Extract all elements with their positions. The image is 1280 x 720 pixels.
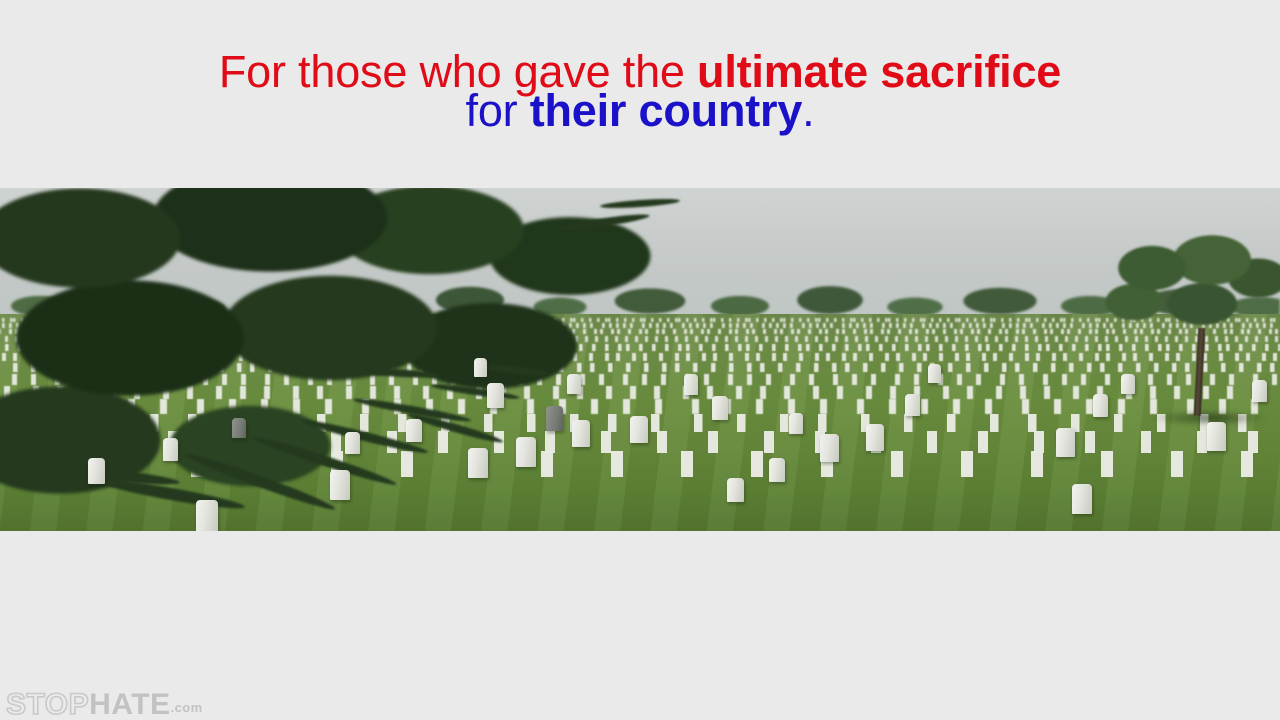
headstone: [196, 500, 218, 531]
headstone: [232, 418, 246, 438]
headstone: [1252, 380, 1267, 402]
headstone: [789, 413, 803, 434]
headstone: [516, 437, 536, 467]
headstone: [1207, 422, 1226, 451]
headstone: [630, 416, 648, 443]
headstone: [684, 374, 698, 395]
headstone: [546, 406, 563, 431]
headstone: [567, 374, 581, 394]
headstone: [1121, 374, 1135, 394]
headstone: [1056, 428, 1075, 457]
tree-canopy-right: [1092, 224, 1280, 350]
headstone: [905, 394, 920, 416]
headstone: [474, 358, 487, 377]
watermark-tld-text: .com: [171, 697, 203, 720]
headstone: [769, 458, 785, 482]
stophate-watermark: STOP HATE .com: [6, 686, 203, 720]
headline-line-2-bold: their country: [530, 85, 802, 136]
headstone: [1072, 484, 1092, 514]
headline-line-2-regular: for: [466, 85, 530, 136]
headline-line-2: for their country.: [0, 91, 1280, 130]
page-title: For those who gave the ultimate sacrific…: [0, 52, 1280, 130]
headstone: [88, 458, 105, 484]
watermark-outline-text: STOP: [6, 690, 89, 720]
headstone: [345, 432, 360, 454]
headstone: [487, 383, 504, 408]
headstone: [406, 419, 422, 442]
headstone: [163, 438, 178, 461]
headstone: [468, 448, 488, 478]
headline-line-2-period: .: [802, 85, 814, 136]
headstone: [330, 470, 350, 500]
headstone: [1093, 394, 1108, 417]
headstone: [928, 364, 941, 383]
headstone: [572, 420, 590, 447]
watermark-solid-text: HATE: [89, 690, 170, 720]
headstone: [820, 434, 839, 462]
headstone: [727, 478, 744, 502]
headstone: [712, 396, 728, 420]
headstone: [866, 424, 884, 451]
cemetery-photo: [0, 188, 1280, 531]
slide-canvas: For those who gave the ultimate sacrific…: [0, 0, 1280, 720]
